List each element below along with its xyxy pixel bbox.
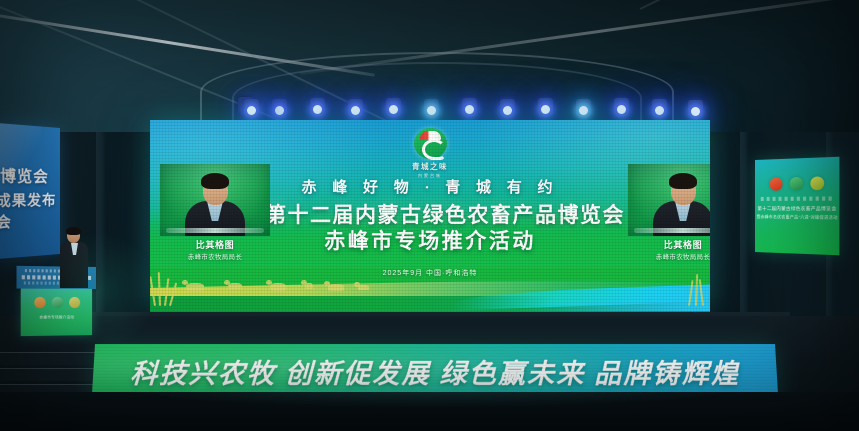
stage-light-10 — [576, 99, 591, 118]
portrait-left-video — [160, 164, 270, 236]
stage-light-12 — [652, 99, 667, 118]
portrait-left-hair — [201, 173, 229, 189]
main-led-screen: 青城之味 内蒙古味 赤 峰 好 物 · 青 城 有 约 第十二届内蒙古绿色农畜产… — [150, 120, 710, 312]
cattle-silhouette-1 — [186, 283, 204, 291]
stage-light-5 — [386, 98, 401, 117]
right-screen-line2: 暨赤峰市名优农畜产品"六进"对接促进活动 — [755, 214, 839, 221]
portrait-right: 比其格图 赤峰市农牧局局长 — [628, 164, 710, 266]
stage-side-glow — [40, 230, 160, 350]
logo-calligraphy: 青城之味 — [404, 161, 456, 172]
stage-light-2 — [272, 99, 287, 118]
event-title-line1: 第十二届内蒙古绿色农畜产品博览会 — [265, 203, 595, 229]
event-title-line2: 赤峰市专场推介活动 — [265, 229, 595, 255]
right-screen-divider — [761, 196, 833, 201]
event-date-location: 2025年9月 中国·呼和浩特 — [265, 268, 595, 278]
left-screen-line1: 博览会 — [0, 164, 49, 187]
stage-light-3 — [310, 98, 325, 117]
portrait-left-desk — [166, 228, 264, 233]
stage-light-6 — [424, 99, 439, 118]
portrait-right-title: 赤峰市农牧局局长 — [628, 251, 710, 261]
cattle-silhouette-4 — [305, 283, 313, 289]
screen-text-block: 赤 峰 好 物 · 青 城 有 约 第十二届内蒙古绿色农畜产品博览会 赤峰市专场… — [265, 176, 595, 278]
portrait-right-desk — [634, 228, 710, 233]
portrait-left-name: 比其格图 — [160, 238, 270, 251]
portrait-right-name: 比其格图 — [628, 238, 710, 251]
cattle-silhouette-3 — [270, 283, 286, 291]
floor-reflection — [120, 386, 740, 408]
stage-light-9 — [538, 98, 553, 117]
event-logo: 青城之味 内蒙古味 — [404, 128, 456, 178]
landscape-cyan-band-2 — [520, 301, 710, 311]
right-screen-line1: 第十二届内蒙古绿色农畜产品博览会 — [755, 206, 839, 212]
logo-swirl-shape — [422, 139, 446, 160]
cattle-silhouette-5 — [328, 284, 344, 291]
stage-light-4 — [348, 99, 363, 118]
cattle-silhouette-2 — [228, 283, 242, 289]
stage-light-8 — [500, 99, 515, 118]
right-logo-3 — [810, 176, 824, 190]
hall-column-right — [740, 132, 749, 332]
right-logo-1 — [769, 177, 782, 190]
stage-light-7 — [462, 98, 477, 117]
portrait-right-hair — [669, 173, 697, 189]
portrait-right-video — [628, 164, 710, 236]
cattle-silhouette-6 — [358, 285, 369, 290]
stage-light-11 — [614, 98, 629, 117]
stage-light-14 — [688, 100, 703, 119]
right-side-screen: 第十二届内蒙古绿色农畜产品博览会 暨赤峰市名优农畜产品"六进"对接促进活动 — [755, 157, 839, 256]
event-slogan: 赤 峰 好 物 · 青 城 有 约 — [265, 176, 595, 197]
left-screen-line2: 成果发布会 — [0, 190, 60, 233]
right-screen-logos — [755, 176, 839, 191]
right-logo-2 — [789, 177, 802, 191]
portrait-left: 比其格图 赤峰市农牧局局长 — [160, 164, 270, 266]
logo-mark-icon — [414, 128, 447, 159]
stage-light-13 — [244, 99, 259, 118]
portrait-left-title: 赤峰市农牧局局长 — [160, 251, 270, 261]
screenshot-root: 博览会 成果发布会 第十二届内蒙古绿色农畜产品博览会 暨赤峰市名优农畜产品"六进… — [0, 0, 859, 431]
banner-slogan: 科技兴农牧 创新促发展 绿色赢未来 品牌铸辉煌 — [92, 352, 778, 391]
